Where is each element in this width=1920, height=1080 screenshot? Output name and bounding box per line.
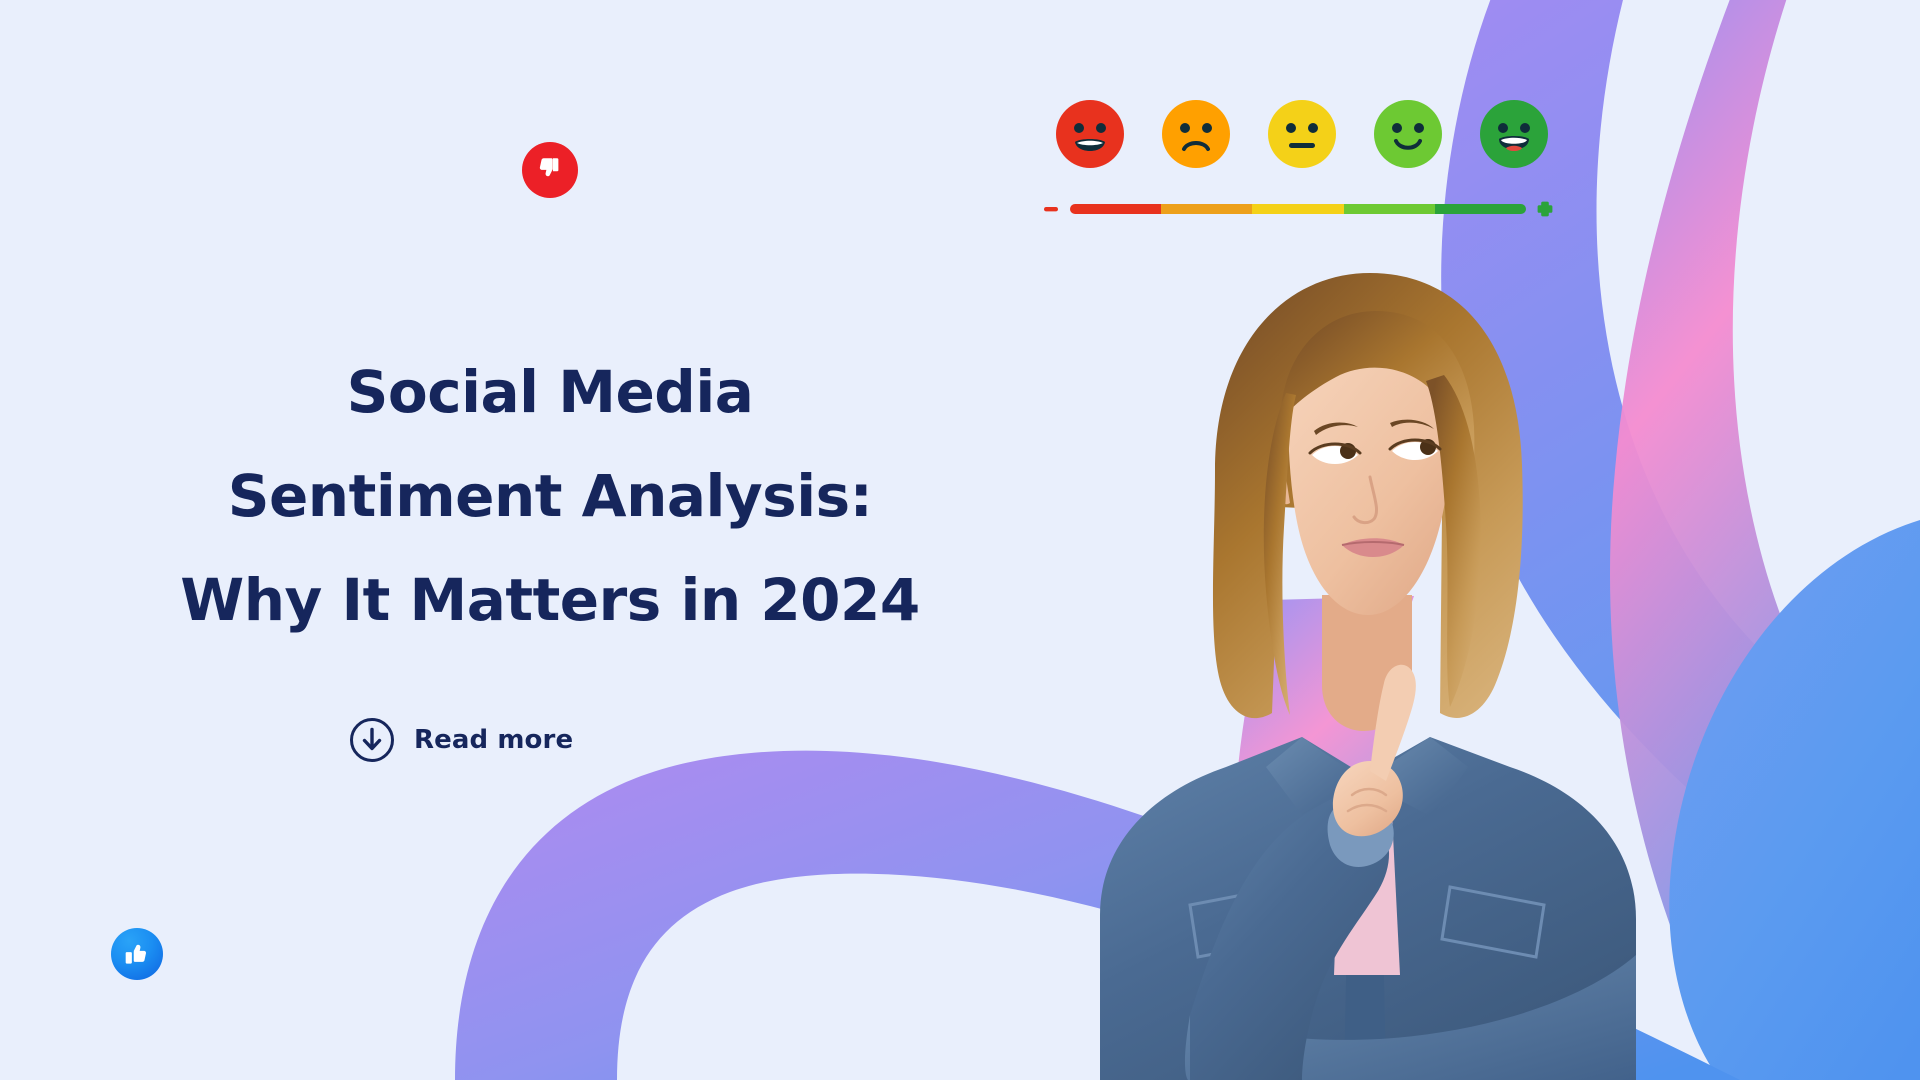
plus-icon [1534,198,1556,220]
face-very-negative-icon[interactable] [1052,96,1128,172]
read-more-label: Read more [414,725,573,755]
sentiment-gradient-bar [1040,198,1556,220]
face-positive-icon[interactable] [1370,96,1446,172]
face-negative-icon[interactable] [1158,96,1234,172]
headline-line-1: Social Media [115,340,985,444]
thumbs-up-icon [123,940,151,968]
page-title: Social Media Sentiment Analysis: Why It … [115,340,985,652]
face-very-positive-icon[interactable] [1476,96,1552,172]
sentiment-scale [1052,96,1552,220]
hero-banner: Social Media Sentiment Analysis: Why It … [0,0,1920,1080]
arrow-down-circle-icon [348,716,396,764]
bar-segment-very-negative [1070,204,1161,214]
minus-icon [1040,198,1062,220]
sentiment-bar-track [1070,204,1526,214]
read-more-button[interactable]: Read more [348,716,573,764]
sentiment-face-row [1052,96,1552,172]
thumbs-down-icon [535,155,565,185]
thumbs-down-badge[interactable] [522,142,578,198]
bar-segment-negative [1161,204,1252,214]
face-neutral-icon[interactable] [1264,96,1340,172]
headline-line-2: Sentiment Analysis: [115,444,985,548]
headline-line-3: Why It Matters in 2024 [115,548,985,652]
thinking-woman-photo [1040,215,1660,1080]
bar-segment-positive [1344,204,1435,214]
bar-segment-neutral [1252,204,1343,214]
thumbs-up-badge[interactable] [111,928,163,980]
bar-segment-very-positive [1435,204,1526,214]
